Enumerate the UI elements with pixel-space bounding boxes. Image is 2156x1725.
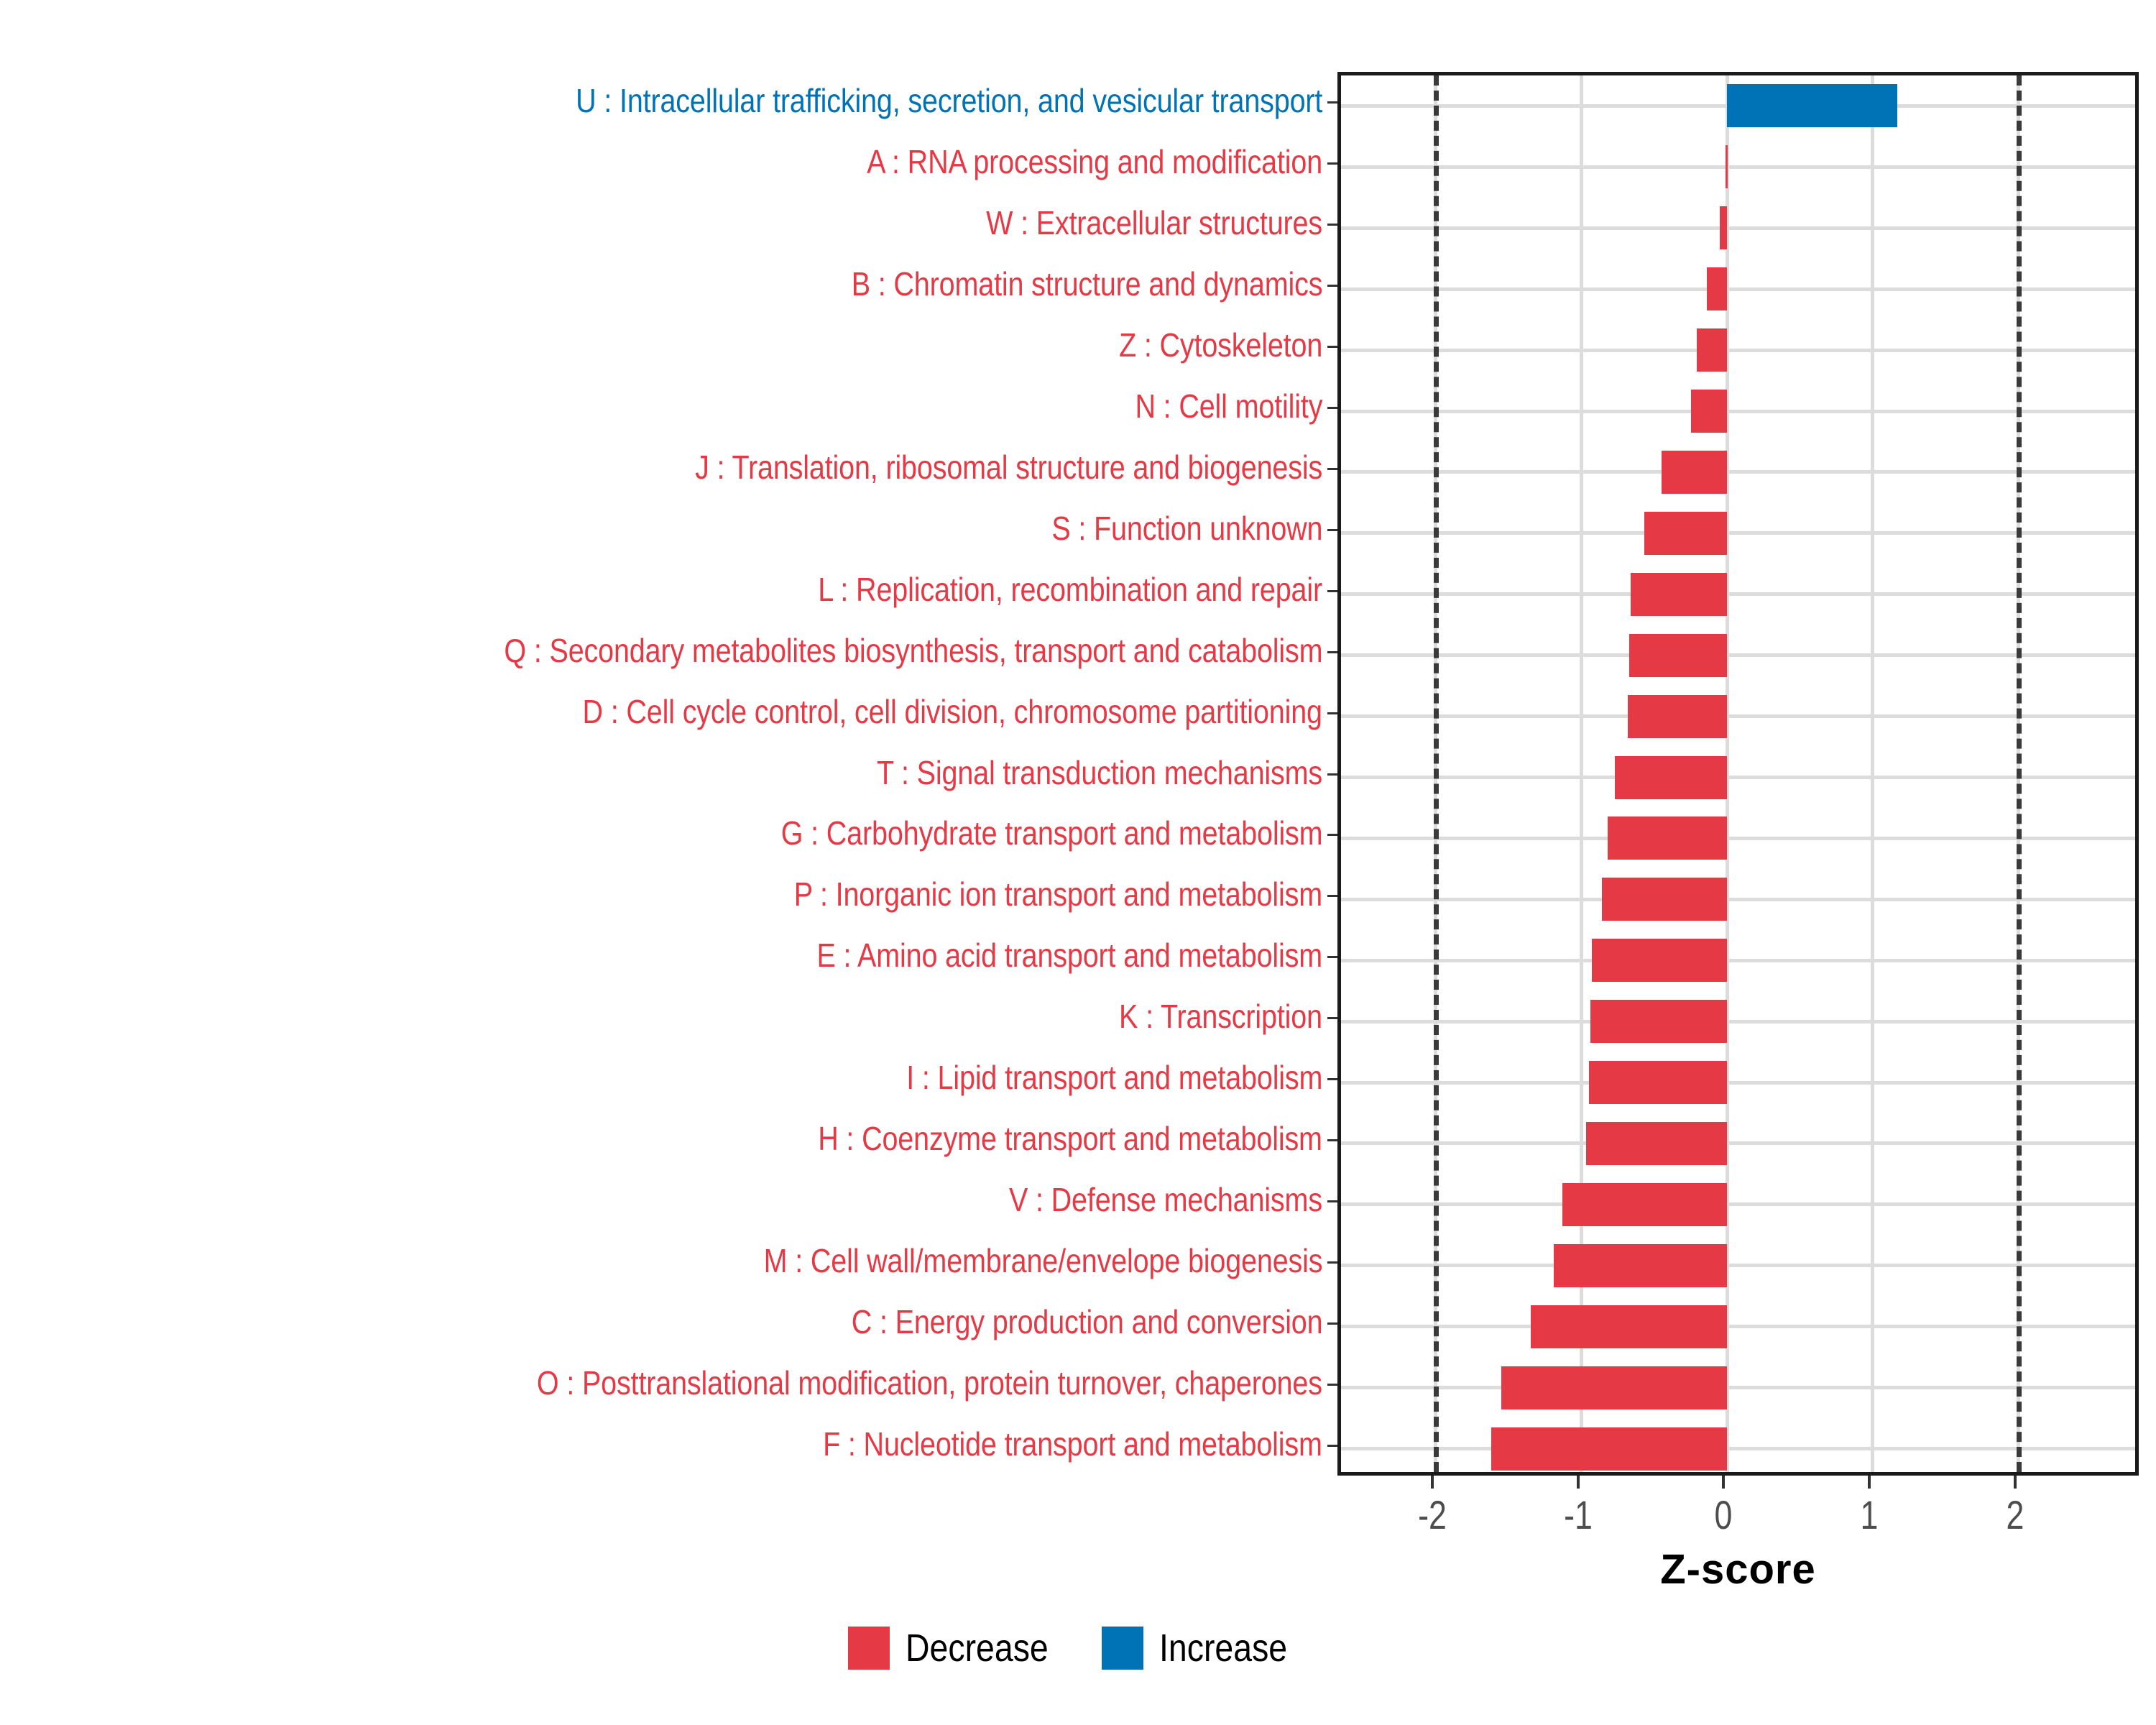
bar[interactable] [1602, 878, 1727, 921]
category-label: W : Extracellular structures [986, 206, 1322, 239]
category-label: O : Posttranslational modification, prot… [537, 1366, 1322, 1399]
category-label: L : Replication, recombination and repai… [818, 573, 1322, 606]
x-axis-tick [1577, 1476, 1580, 1489]
y-axis-tick [1327, 1445, 1337, 1447]
category-label: E : Amino acid transport and metabolism [816, 939, 1322, 972]
x-axis-tick-label: -2 [1398, 1491, 1467, 1538]
y-axis-tick [1327, 651, 1337, 653]
category-label: Q : Secondary metabolites biosynthesis, … [504, 634, 1322, 667]
bar[interactable] [1554, 1244, 1727, 1287]
bar[interactable] [1629, 634, 1727, 677]
bar[interactable] [1592, 939, 1728, 982]
bar[interactable] [1631, 573, 1727, 616]
category-label: F : Nucleotide transport and metabolism [823, 1427, 1322, 1460]
y-axis-tick [1327, 1261, 1337, 1264]
y-axis-tick [1327, 346, 1337, 348]
x-axis-tick-label: 2 [1981, 1491, 2050, 1538]
y-axis-tick [1327, 101, 1337, 103]
y-axis-tick [1327, 834, 1337, 836]
category-label: I : Lipid transport and metabolism [906, 1061, 1322, 1094]
category-label: A : RNA processing and modification [867, 145, 1322, 178]
category-label: H : Coenzyme transport and metabolism [818, 1122, 1322, 1155]
bar[interactable] [1726, 145, 1728, 188]
category-label: V : Defense mechanisms [1009, 1183, 1322, 1216]
category-label: G : Carbohydrate transport and metabolis… [780, 816, 1322, 850]
plot-panel [1337, 72, 2139, 1476]
x-axis-tick-label: -1 [1544, 1491, 1613, 1538]
x-axis-tick [1722, 1476, 1725, 1489]
x-axis-tick-label: 0 [1689, 1491, 1758, 1538]
y-axis-tick [1327, 1139, 1337, 1141]
y-axis-tick [1327, 956, 1337, 958]
bar[interactable] [1608, 816, 1727, 860]
bar[interactable] [1586, 1122, 1728, 1165]
y-axis-tick [1327, 407, 1337, 409]
legend: Decrease Increase [0, 1626, 2156, 1670]
bar[interactable] [1589, 1061, 1728, 1104]
category-label: C : Energy production and conversion [851, 1305, 1322, 1338]
reference-line [1434, 75, 1439, 1472]
category-label: U : Intracellular trafficking, secretion… [576, 84, 1322, 117]
y-axis-tick [1327, 285, 1337, 287]
category-label: K : Transcription [1119, 1000, 1322, 1033]
category-label: B : Chromatin structure and dynamics [851, 267, 1322, 300]
increase-swatch [1102, 1627, 1143, 1670]
x-axis-tick [2014, 1476, 2017, 1489]
bar[interactable] [1707, 267, 1727, 310]
bar[interactable] [1727, 84, 1897, 127]
bar[interactable] [1562, 1183, 1727, 1226]
legend-label-decrease: Decrease [906, 1626, 1049, 1670]
y-axis-tick [1327, 895, 1337, 897]
bar[interactable] [1615, 756, 1727, 799]
cog-zscore-bar-chart: U : Intracellular trafficking, secretion… [0, 0, 2156, 1725]
category-label: Z : Cytoskeleton [1119, 328, 1322, 362]
category-label: M : Cell wall/membrane/envelope biogenes… [763, 1244, 1322, 1277]
y-axis-tick [1327, 590, 1337, 592]
category-label: S : Function unknown [1051, 512, 1322, 545]
bar[interactable] [1590, 1000, 1728, 1043]
x-axis-tick [1431, 1476, 1434, 1489]
bar[interactable] [1691, 390, 1728, 433]
y-axis-tick [1327, 224, 1337, 226]
bar[interactable] [1697, 328, 1728, 372]
x-axis-tick-label: 1 [1835, 1491, 1904, 1538]
category-axis-labels: U : Intracellular trafficking, secretion… [0, 72, 1322, 1476]
reference-line [2017, 75, 2022, 1472]
y-axis-tick [1327, 1078, 1337, 1080]
bar[interactable] [1491, 1427, 1727, 1471]
y-axis-tick [1327, 1200, 1337, 1202]
category-label: T : Signal transduction mechanisms [877, 756, 1322, 789]
y-axis-tick [1327, 1322, 1337, 1325]
category-label: J : Translation, ribosomal structure and… [695, 451, 1322, 484]
legend-item-decrease[interactable]: Decrease [848, 1626, 1072, 1670]
y-axis-tick [1327, 773, 1337, 776]
y-axis-tick [1327, 1017, 1337, 1019]
legend-label-increase: Increase [1159, 1626, 1287, 1670]
bar[interactable] [1720, 206, 1727, 249]
legend-item-increase[interactable]: Increase [1102, 1626, 1308, 1670]
y-axis-tick [1327, 162, 1337, 165]
bar[interactable] [1662, 451, 1727, 494]
y-axis-tick [1327, 712, 1337, 714]
bar[interactable] [1644, 512, 1728, 555]
y-axis-tick [1327, 529, 1337, 531]
decrease-swatch [848, 1627, 890, 1670]
category-label: P : Inorganic ion transport and metaboli… [794, 878, 1322, 911]
vertical-gridline [1871, 75, 1874, 1472]
category-label: D : Cell cycle control, cell division, c… [583, 695, 1322, 728]
y-axis-tick [1327, 1384, 1337, 1386]
bar[interactable] [1628, 695, 1727, 738]
category-label: N : Cell motility [1135, 390, 1322, 423]
y-axis-tick [1327, 468, 1337, 470]
bar[interactable] [1531, 1305, 1728, 1348]
x-axis-tick [1868, 1476, 1871, 1489]
bar[interactable] [1501, 1366, 1727, 1409]
x-axis-title: Z-score [1337, 1545, 2139, 1593]
